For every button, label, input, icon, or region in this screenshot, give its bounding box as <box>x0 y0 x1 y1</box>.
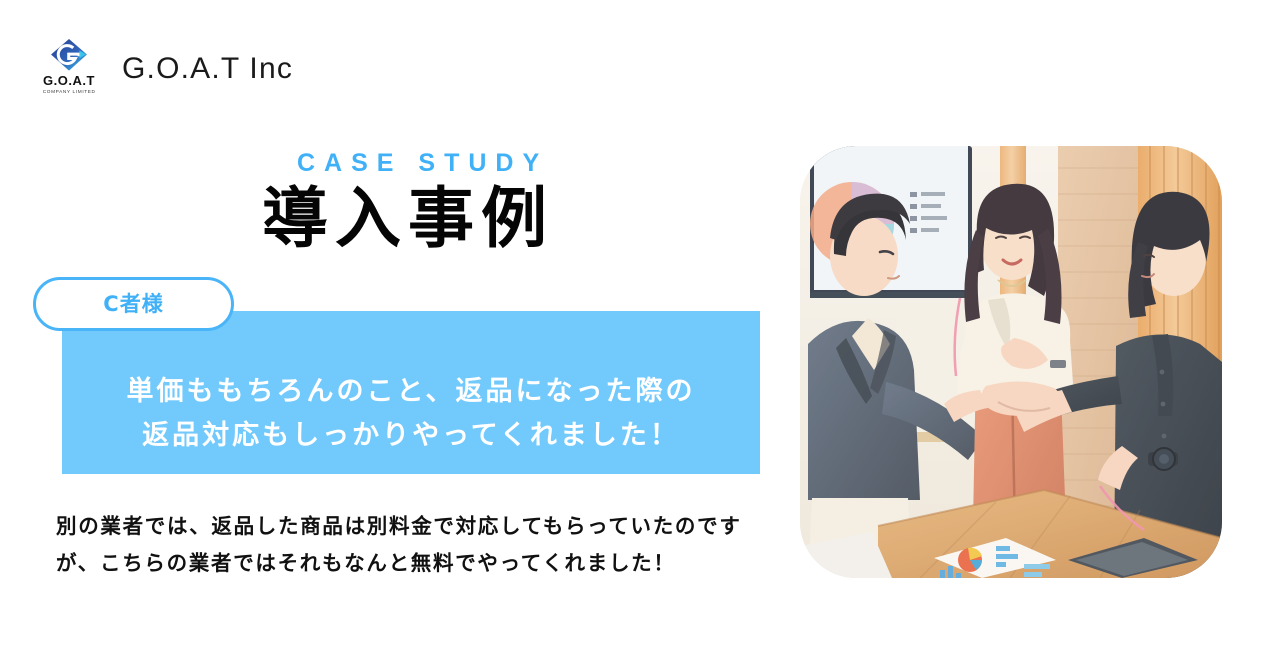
logo-subtext: COMPANY LIMITED <box>43 90 96 95</box>
customer-badge-label: C者様 <box>103 294 163 315</box>
quote-panel <box>62 311 760 474</box>
company-name: G.O.A.T Inc <box>122 52 293 86</box>
testimonial-body: 別の業者では、返品した商品は別料金で対応してもらっていたのですが、こちらの業者で… <box>56 508 768 583</box>
logo-lockup: G.O.A.T COMPANY LIMITED <box>34 38 104 100</box>
goat-diamond-g-logo-icon <box>50 38 88 72</box>
logo-wordmark: G.O.A.T <box>43 74 95 87</box>
case-study-photo <box>800 146 1222 578</box>
brand-header[interactable]: G.O.A.T COMPANY LIMITED G.O.A.T Inc <box>34 38 293 100</box>
handshake-meeting-illustration <box>800 146 1222 578</box>
customer-badge: C者様 <box>33 277 234 331</box>
section-eyebrow: CASE STUDY <box>297 149 548 178</box>
page-title: 導入事例 <box>262 184 554 254</box>
